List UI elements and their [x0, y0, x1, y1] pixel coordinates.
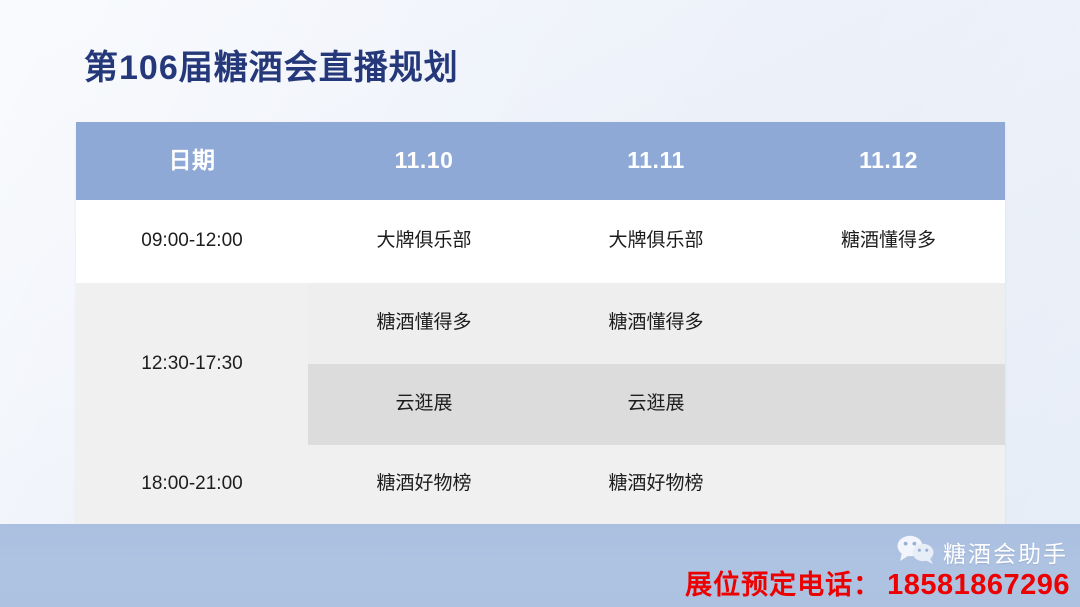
cell-1112-afternoon-a: [772, 283, 1005, 364]
cell-1111-evening: 糖酒好物榜: [540, 445, 772, 524]
row-time-morning: 09:00-12:00: [76, 200, 308, 283]
cell-1112-morning: 糖酒懂得多: [772, 200, 1005, 283]
cell-1110-evening: 糖酒好物榜: [308, 445, 540, 524]
column-header-1110: 11.10: [308, 122, 540, 200]
booking-phone-line: 展位预定电话： 18581867296: [685, 563, 1070, 602]
booking-phone-label: 展位预定电话：: [685, 563, 881, 602]
booking-phone-number: 18581867296: [887, 569, 1070, 602]
cell-1112-evening: [772, 445, 1005, 524]
row-time-evening: 18:00-21:00: [76, 445, 308, 524]
table-row: 09:00-12:00 大牌俱乐部 大牌俱乐部 糖酒懂得多: [76, 200, 1005, 283]
cell-1111-morning: 大牌俱乐部: [540, 200, 772, 283]
column-header-1112: 11.12: [772, 122, 1005, 200]
table-subrow-highlighted: 云逛展 云逛展: [308, 364, 1005, 445]
table-header-row: 日期 11.10 11.11 11.12: [76, 122, 1005, 200]
cell-1111-afternoon-b: 云逛展: [540, 364, 772, 445]
cell-1112-afternoon-b: [772, 364, 1005, 445]
slide-canvas: 第106届糖酒会直播规划 日期 11.10 11.11 11.12 09:00-…: [0, 0, 1080, 607]
cell-1110-afternoon-a: 糖酒懂得多: [308, 283, 540, 364]
cell-1110-morning: 大牌俱乐部: [308, 200, 540, 283]
live-schedule-table: 日期 11.10 11.11 11.12 09:00-12:00 大牌俱乐部 大…: [76, 122, 1005, 524]
table-subrow: 糖酒懂得多 糖酒懂得多: [308, 283, 1005, 364]
row-time-afternoon: 12:30-17:30: [76, 283, 308, 445]
column-header-1111: 11.11: [540, 122, 772, 200]
cell-1110-afternoon-b: 云逛展: [308, 364, 540, 445]
merged-subrow-group: 糖酒懂得多 糖酒懂得多 云逛展 云逛展: [308, 283, 1005, 445]
cell-1111-afternoon-a: 糖酒懂得多: [540, 283, 772, 364]
page-title: 第106届糖酒会直播规划: [84, 40, 459, 89]
column-header-date: 日期: [76, 122, 308, 200]
table-row: 18:00-21:00 糖酒好物榜 糖酒好物榜: [76, 445, 1005, 524]
table-row-merged: 12:30-17:30 糖酒懂得多 糖酒懂得多 云逛展 云逛展: [76, 283, 1005, 445]
footer-band: 糖酒会助手 展位预定电话： 18581867296: [0, 524, 1080, 607]
